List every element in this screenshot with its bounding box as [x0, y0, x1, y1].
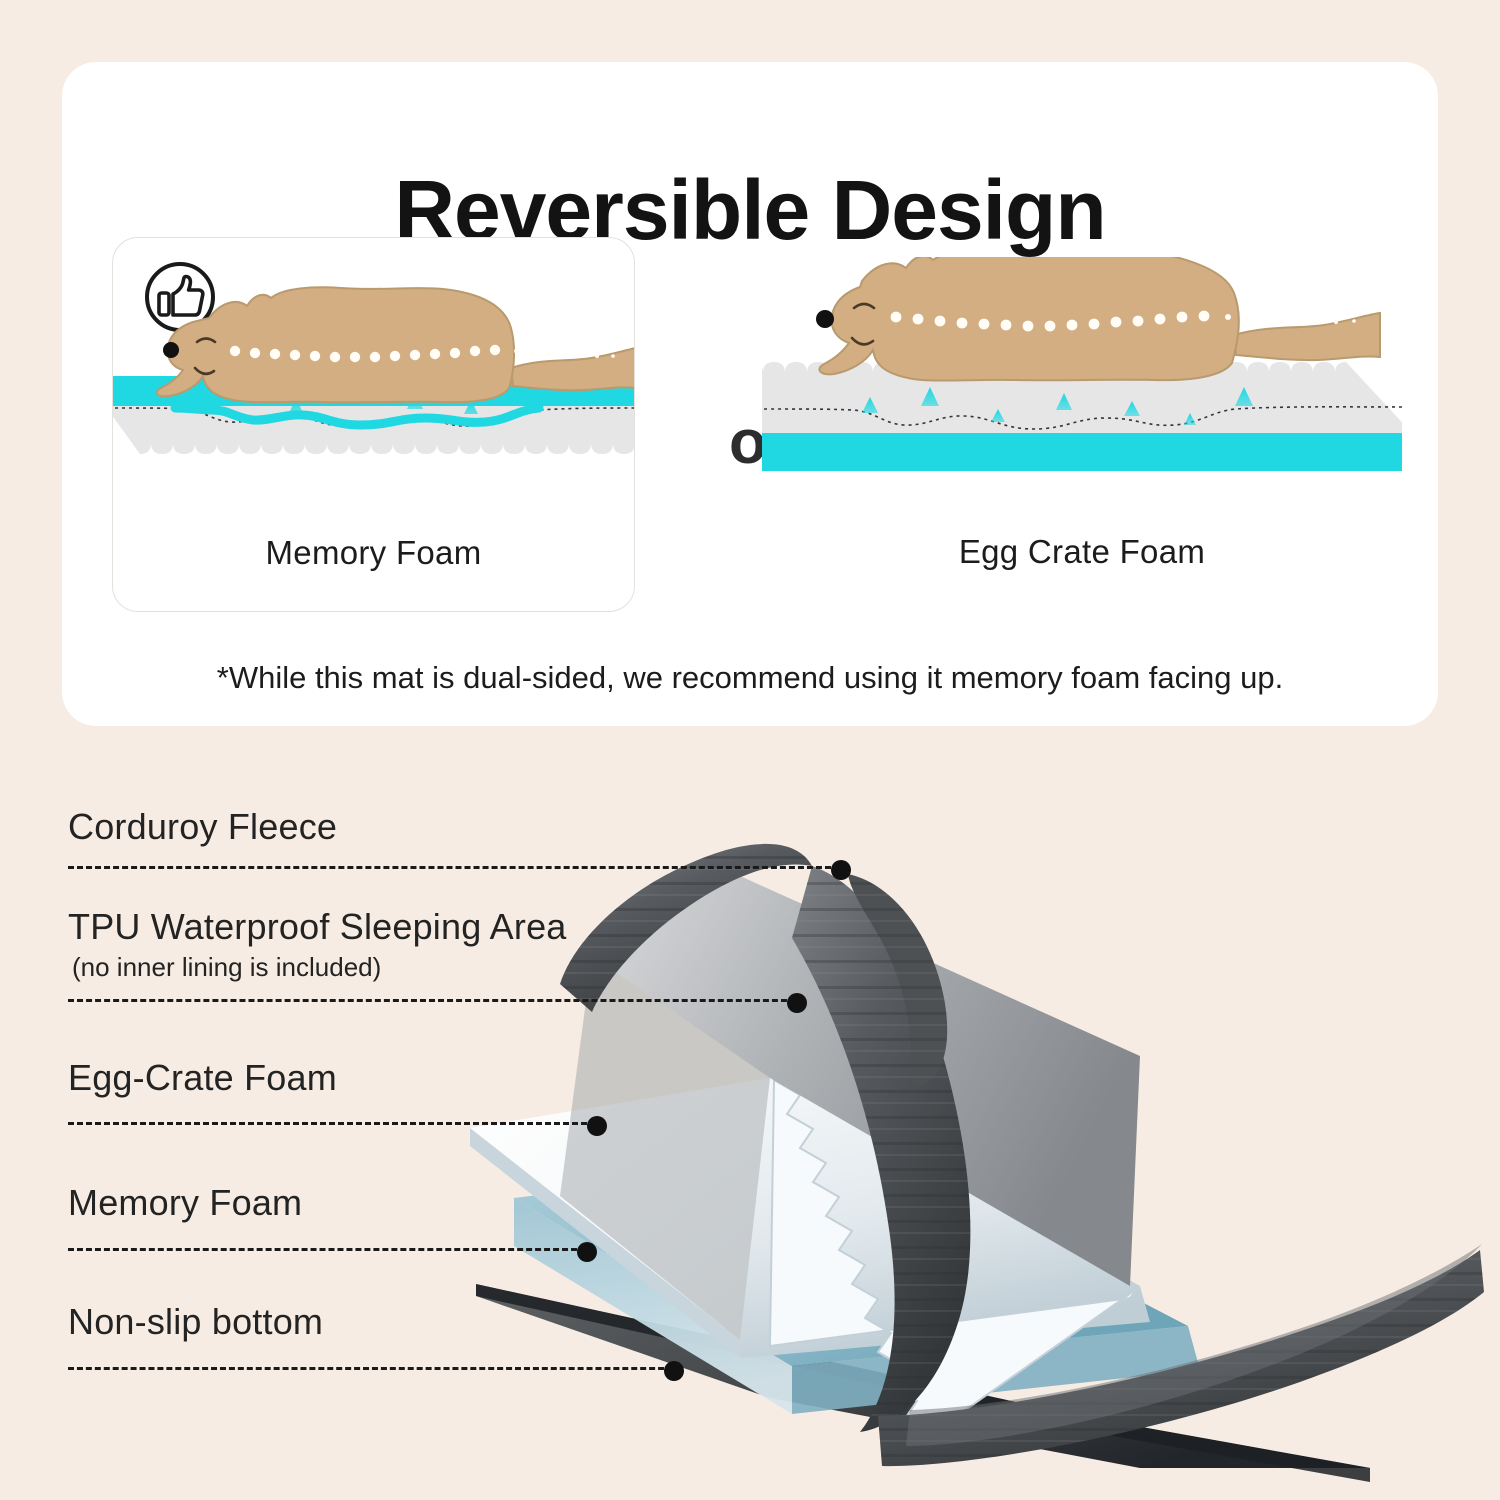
layer-label-memory-foam: Memory Foam [68, 1182, 302, 1224]
layer-breakdown-section: Corduroy Fleece TPU Waterproof Sleeping … [0, 726, 1500, 1500]
leader-dot-egg-crate-foam [587, 1116, 607, 1136]
egg-crate-foam-illustration [762, 257, 1402, 557]
panel-caption-egg-crate-foam: Egg Crate Foam [762, 533, 1402, 571]
panel-egg-crate-foam: Egg Crate Foam [762, 237, 1402, 612]
leader-line-corduroy-fleece [68, 866, 840, 869]
leader-dot-memory-foam [577, 1242, 597, 1262]
layer-label-egg-crate-foam: Egg-Crate Foam [68, 1057, 337, 1099]
leader-line-egg-crate-foam [68, 1122, 596, 1125]
leader-dot-tpu-waterproof [787, 993, 807, 1013]
leader-line-tpu-waterproof [68, 999, 796, 1002]
reversible-design-card: Reversible Design [62, 62, 1438, 726]
layer-label-tpu-waterproof: TPU Waterproof Sleeping Area (no inner l… [68, 906, 567, 983]
mat-exploded-view-image [440, 726, 1500, 1500]
leader-dot-non-slip-bottom [664, 1361, 684, 1381]
leader-line-non-slip-bottom [68, 1367, 673, 1370]
layer-label-non-slip-bottom: Non-slip bottom [68, 1301, 323, 1343]
layer-label-corduroy-fleece: Corduroy Fleece [68, 806, 337, 848]
footnote-text: *While this mat is dual-sided, we recomm… [62, 660, 1438, 696]
panel-caption-memory-foam: Memory Foam [113, 534, 634, 572]
panel-memory-foam: Memory Foam [112, 237, 635, 612]
leader-dot-corduroy-fleece [831, 860, 851, 880]
memory-foam-illustration [113, 258, 635, 558]
leader-line-memory-foam [68, 1248, 586, 1251]
